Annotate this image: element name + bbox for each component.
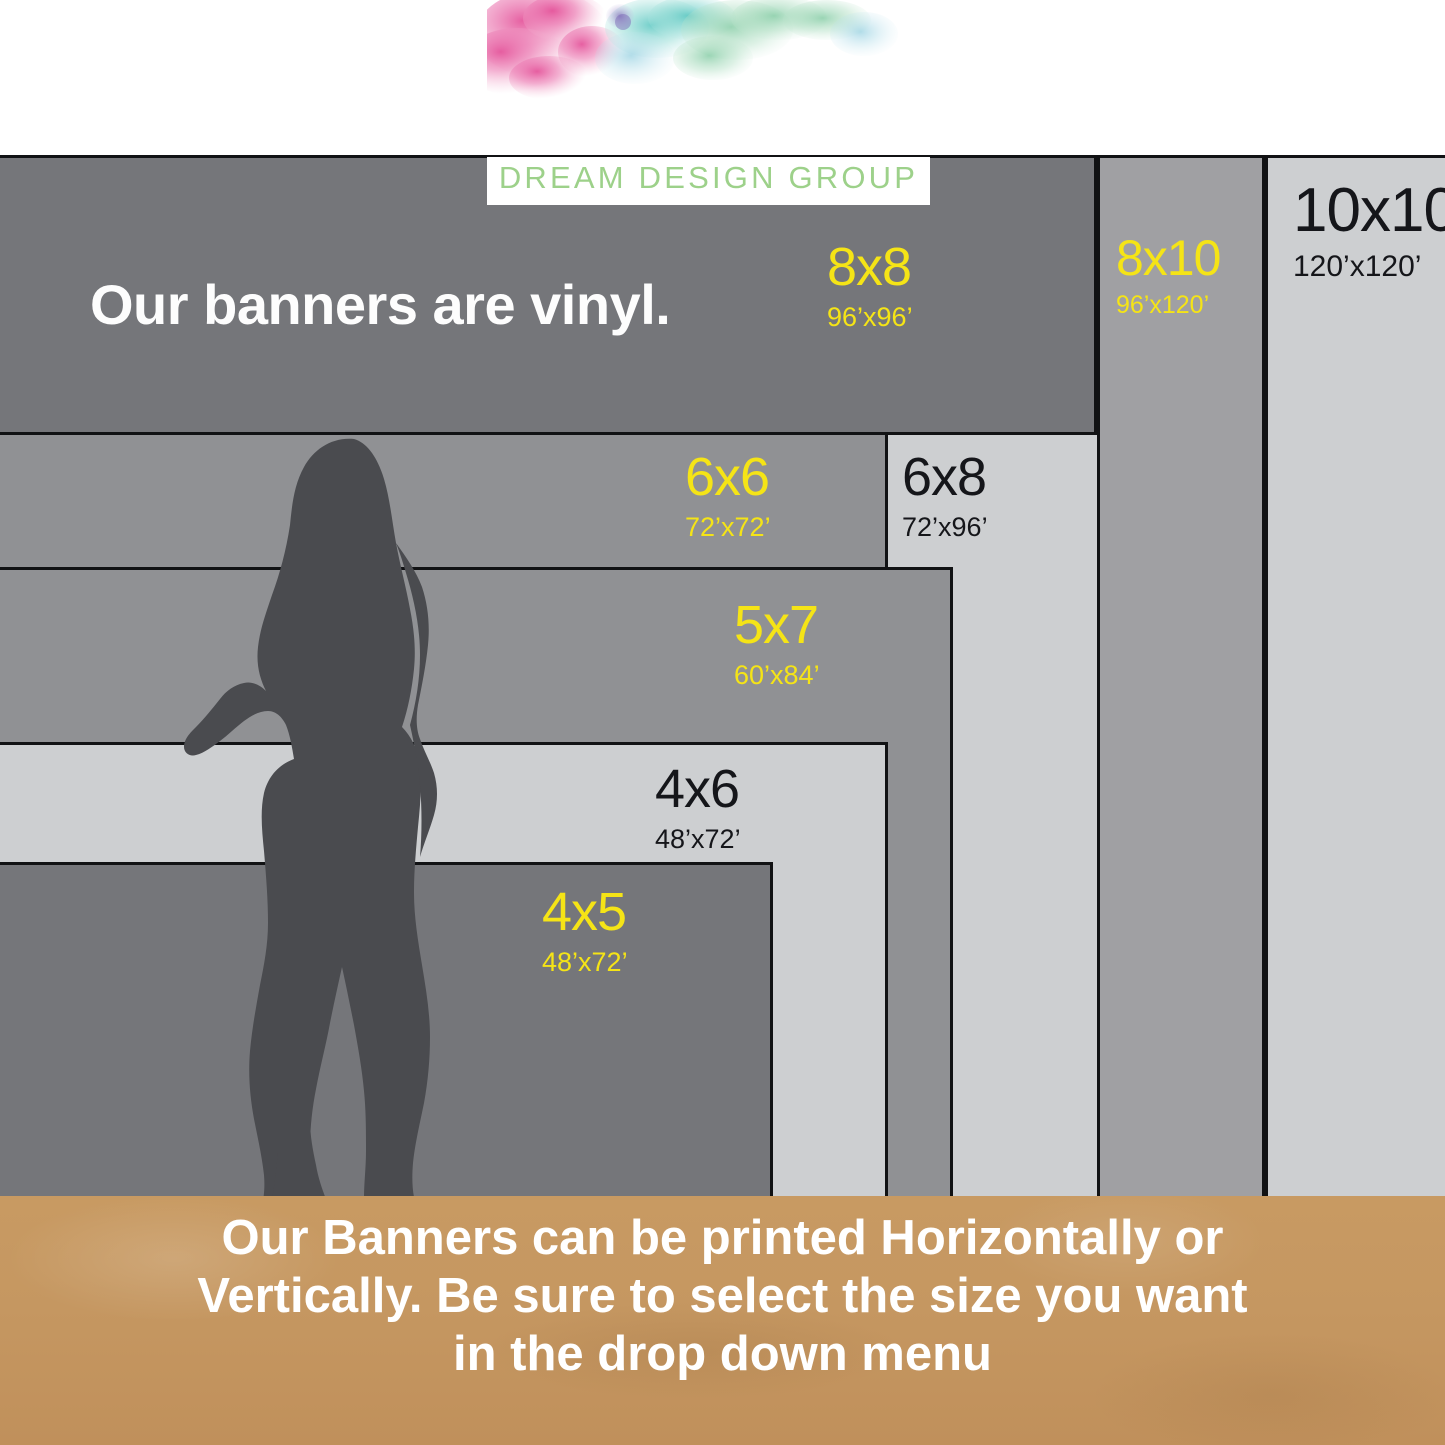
caption-line-1: Our Banners can be printed Horizontally … bbox=[0, 1210, 1445, 1268]
banner-label-6x8: 6x8 72’x96’ bbox=[902, 450, 988, 541]
banner-label-6x6: 6x6 72’x72’ bbox=[685, 450, 771, 541]
banner-size-10x10: 10x10 bbox=[1293, 180, 1445, 242]
banner-panel-8x10[interactable]: 8x10 96’x120’ bbox=[1097, 155, 1265, 1199]
banner-size-6x6: 6x6 bbox=[685, 450, 771, 504]
banner-dims-8x8: 96’x96’ bbox=[827, 304, 913, 331]
floor-background: Our Banners can be printed Horizontally … bbox=[0, 1196, 1445, 1445]
caption-line-3: in the drop down menu bbox=[0, 1326, 1445, 1384]
banner-size-6x8: 6x8 bbox=[902, 450, 988, 504]
woman-silhouette-icon bbox=[182, 433, 507, 1223]
banner-dims-6x8: 72’x96’ bbox=[902, 514, 988, 541]
banner-label-10x10: 10x10 120’x120’ bbox=[1293, 180, 1445, 282]
banner-label-4x5: 4x5 48’x72’ bbox=[542, 885, 628, 976]
banner-label-8x8: 8x8 96’x96’ bbox=[827, 240, 913, 331]
banner-size-4x5: 4x5 bbox=[542, 885, 628, 939]
banner-size-4x6: 4x6 bbox=[655, 762, 741, 816]
banner-size-8x10: 8x10 bbox=[1116, 233, 1220, 283]
banner-size-comparison-graphic: 8x8 96’x96’ 8x10 96’x120’ 10x10 120’x120… bbox=[0, 0, 1445, 1445]
banner-panel-10x10[interactable]: 10x10 120’x120’ bbox=[1265, 155, 1445, 1199]
banner-dims-5x7: 60’x84’ bbox=[734, 662, 820, 689]
banner-dims-8x10: 96’x120’ bbox=[1116, 293, 1220, 318]
caption-line-2: Vertically. Be sure to select the size y… bbox=[0, 1268, 1445, 1326]
bottom-caption: Our Banners can be printed Horizontally … bbox=[0, 1210, 1445, 1383]
brand-logo: DREAM DESIGN GROUP bbox=[487, 0, 930, 205]
banner-size-8x8: 8x8 bbox=[827, 240, 913, 294]
banner-size-5x7: 5x7 bbox=[734, 598, 820, 652]
banner-label-4x6: 4x6 48’x72’ bbox=[655, 762, 741, 853]
banner-label-8x10: 8x10 96’x120’ bbox=[1116, 233, 1220, 318]
watercolor-splash-icon bbox=[487, 0, 930, 120]
banner-dims-4x6: 48’x72’ bbox=[655, 826, 741, 853]
banner-label-5x7: 5x7 60’x84’ bbox=[734, 598, 820, 689]
banner-dims-4x5: 48’x72’ bbox=[542, 949, 628, 976]
banner-dims-6x6: 72’x72’ bbox=[685, 514, 771, 541]
logo-wordmark: DREAM DESIGN GROUP bbox=[487, 160, 930, 196]
headline-text: Our banners are vinyl. bbox=[90, 272, 670, 337]
banner-dims-10x10: 120’x120’ bbox=[1293, 252, 1445, 282]
